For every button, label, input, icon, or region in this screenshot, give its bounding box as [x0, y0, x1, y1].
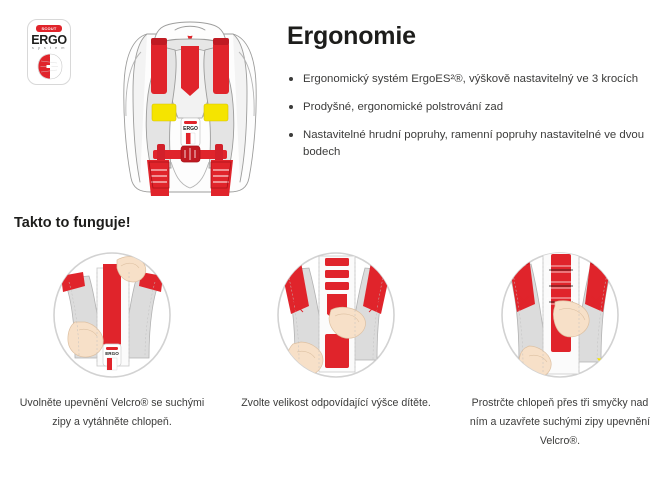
product-overview-section: SCOUT ERGO s y s t e m: [0, 0, 672, 205]
backpack-back-harness-illustration: ERGO: [95, 12, 285, 202]
step-caption: Zvolte velikost odpovídající výšce dítět…: [241, 394, 431, 413]
svg-text:ERGO: ERGO: [105, 351, 119, 356]
howto-section-title: Takto to funguje!: [14, 215, 131, 231]
svg-text:ERGO: ERGO: [183, 126, 198, 132]
step-thread-and-close-illustration: [493, 248, 627, 382]
badge-ribbon-label: SCOUT: [36, 25, 62, 32]
step-release-velcro-illustration: ERGO: [45, 248, 179, 382]
ergonomics-text-block: Ergonomie Ergonomický systém ErgoES²®, v…: [287, 22, 657, 172]
step-choose-size-illustration: [269, 248, 403, 382]
badge-word-ergo: ERGO: [28, 33, 70, 47]
step-caption: Prostrčte chlopeň přes tři smyčky nad ní…: [465, 394, 655, 451]
feature-item: Nastavitelné hrudní popruhy, ramenní pop…: [287, 127, 657, 161]
badge-subtitle-system: s y s t e m: [28, 46, 70, 50]
howto-step-3: Prostrčte chlopeň přes tři smyčky nad ní…: [448, 248, 672, 451]
howto-step-2: Zvolte velikost odpovídající výšce dítět…: [224, 248, 448, 451]
feature-item: Prodyšné, ergonomické polstrování zad: [287, 99, 657, 116]
howto-steps-row: ERGO Uvolněte upevnění Velcro® se: [0, 248, 672, 451]
ergo-system-badge: SCOUT ERGO s y s t e m: [27, 19, 71, 85]
step-caption: Uvolněte upevnění Velcro® se suchými zip…: [17, 394, 207, 432]
feature-item: Ergonomický systém ErgoES²®, výškově nas…: [287, 71, 657, 88]
badge-back-figure-icon: [35, 53, 65, 80]
howto-step-1: ERGO Uvolněte upevnění Velcro® se: [0, 248, 224, 451]
page-title: Ergonomie: [287, 22, 657, 51]
feature-list: Ergonomický systém ErgoES²®, výškově nas…: [287, 71, 657, 161]
